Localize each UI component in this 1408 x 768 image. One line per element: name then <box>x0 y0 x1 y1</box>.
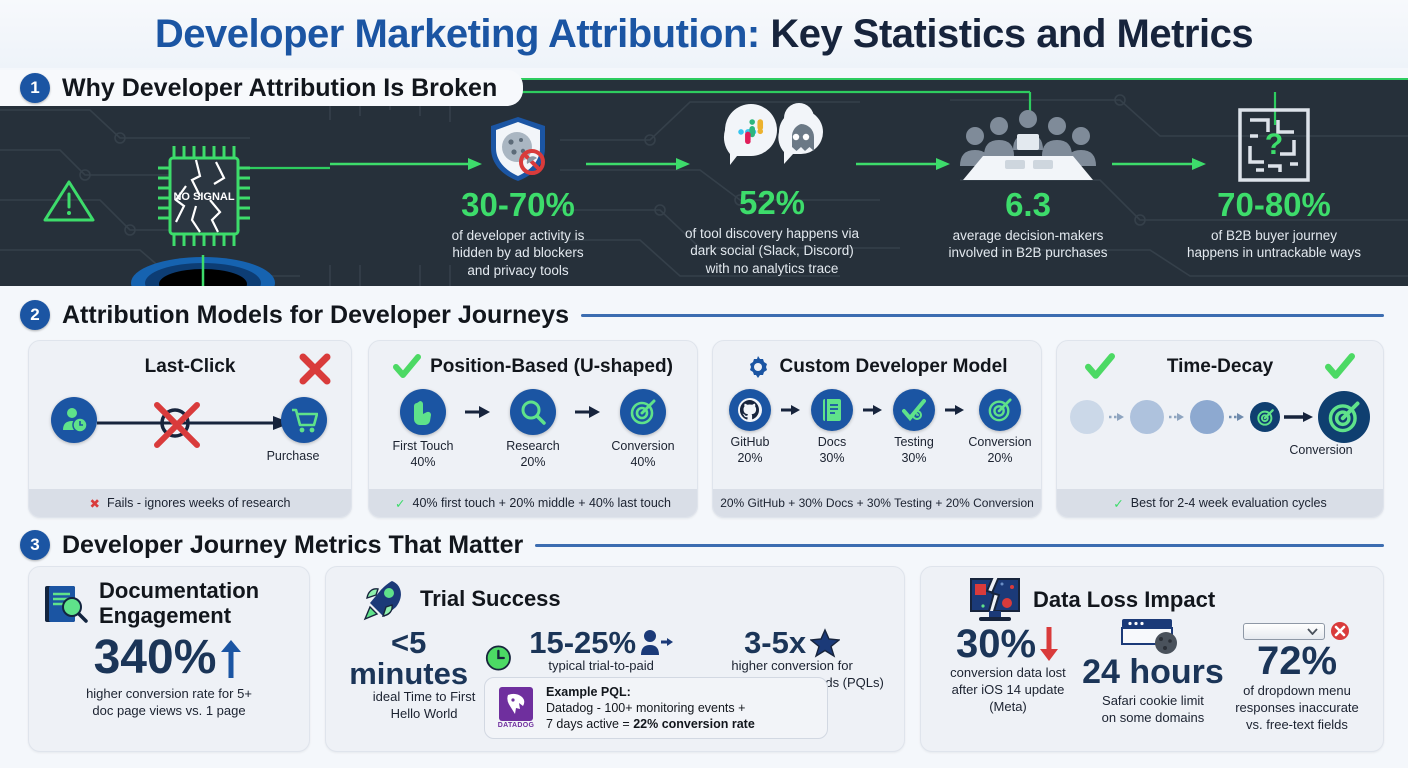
custom-model-label: Custom Developer Model <box>779 356 1007 378</box>
faded-arrow-icon <box>1228 412 1246 422</box>
faded-arrow-icon <box>1108 412 1126 422</box>
flow-arrow-1-icon <box>330 154 490 174</box>
target-icon <box>1318 391 1370 443</box>
user-arrow-icon <box>639 628 673 658</box>
dataloss-metric-3: 72% of dropdown menu responses inaccurat… <box>1225 627 1369 734</box>
target-icon <box>620 389 666 435</box>
footer-text: 20% GitHub + 30% Docs + 30% Testing + 20… <box>720 496 1034 510</box>
model-card-title: Time-Decay <box>1057 341 1383 381</box>
page-title-part2: Key Statistics and Metrics <box>760 12 1253 56</box>
stat-desc-4: of B2B buyer journey happens in untracka… <box>1156 227 1392 263</box>
flow-arrow-icon <box>945 389 965 431</box>
metric-desc: higher conversion rate for 5+ doc page v… <box>29 686 309 720</box>
stat-value-2: 52% <box>652 186 892 221</box>
dropdown-select[interactable] <box>1243 623 1325 640</box>
flow-arrow-2-icon <box>586 154 696 174</box>
browser-cookie-icon <box>1116 617 1190 655</box>
flow-arrow-icon <box>863 389 883 431</box>
red-x-icon <box>297 351 333 387</box>
flow-arrow-icon <box>465 389 491 435</box>
model-card-footer: 20% GitHub + 30% Docs + 30% Testing + 20… <box>713 489 1041 517</box>
section-1-number: 1 <box>20 73 50 103</box>
flow-node: Testing 30% <box>883 389 945 465</box>
tap-finger-icon <box>400 389 446 435</box>
search-crossed-icon <box>149 399 205 456</box>
dataloss-metric-1: 30% conversion data lost after iOS 14 up… <box>935 627 1081 716</box>
node-label: Conversion <box>607 439 679 455</box>
metric-card-title: Documentation Engagement <box>29 567 309 628</box>
model-card-title: Custom Developer Model <box>713 341 1041 381</box>
page-title: Developer Marketing Attribution: Key Sta… <box>155 12 1253 57</box>
dark-social-chat-icon <box>717 102 827 184</box>
flow-node: Conversion 20% <box>965 389 1035 465</box>
metric-value: 340% <box>94 634 217 682</box>
trial-success-label: Trial Success <box>420 587 561 612</box>
page-title-part1: Developer Marketing Attribution: <box>155 12 760 56</box>
stat-desc-3: average decision-makers involved in B2B … <box>912 227 1144 263</box>
section-1-heading: 1 Why Developer Attribution Is Broken <box>0 70 523 106</box>
node-label-purchase: Purchase <box>255 449 331 465</box>
stat-card-3: 6.3 average decision-makers involved in … <box>912 108 1144 262</box>
data-loss-label: Data Loss Impact <box>1033 588 1215 613</box>
user-clock-icon <box>1070 400 1104 434</box>
node-label-conversion: Conversion <box>1273 443 1369 459</box>
dataloss-metric-2: 24 hours Safari cookie limit on some dom… <box>1081 627 1225 727</box>
docs-icon <box>1130 400 1164 434</box>
section-3-rule <box>535 544 1384 547</box>
data-sink-hole-icon <box>130 255 276 286</box>
node-label: Docs <box>801 435 863 451</box>
target-icon <box>979 389 1021 431</box>
model-flow: First Touch 40% Research 20% Conversion … <box>369 389 697 469</box>
cart-icon <box>281 397 327 443</box>
datadog-wordmark: DATADOG <box>495 722 537 729</box>
broken-screen-icon <box>967 575 1023 625</box>
node-pct: 20% <box>719 451 781 465</box>
rocket-icon <box>362 575 410 623</box>
flow-arrow-icon <box>575 389 601 435</box>
stat-value-4: 70-80% <box>1156 188 1392 223</box>
node-pct: 20% <box>497 455 569 469</box>
warning-triangle-icon <box>42 178 96 229</box>
svg-text:NO SIGNAL: NO SIGNAL <box>173 191 234 203</box>
node-label: Testing <box>883 435 945 451</box>
time-decay-label: Time-Decay <box>1167 356 1273 378</box>
node-label: Conversion <box>965 435 1035 451</box>
target-icon <box>1250 402 1280 432</box>
flow-arrow-icon <box>781 389 801 431</box>
footer-text: 40% first touch + 20% middle + 40% last … <box>413 496 671 510</box>
section-1-title: Why Developer Attribution Is Broken <box>62 74 497 103</box>
magnifier-icon <box>510 389 556 435</box>
datadog-logo: DATADOG <box>495 687 537 729</box>
stat-desc-2: of tool discovery happens via dark socia… <box>652 225 892 278</box>
model-card-last-click[interactable]: Last-Click Purchase <box>28 340 352 518</box>
section-2-title: Attribution Models for Developer Journey… <box>62 301 569 330</box>
section-2-number: 2 <box>20 300 50 330</box>
journey-metric-cards: Documentation Engagement 340% higher con… <box>0 566 1408 752</box>
flow-node: Docs 30% <box>801 389 863 465</box>
model-card-time-decay[interactable]: Time-Decay Conversion ✓ <box>1056 340 1384 518</box>
section-3-title: Developer Journey Metrics That Matter <box>62 531 523 560</box>
github-icon <box>729 389 771 431</box>
node-pct: 30% <box>801 451 863 465</box>
model-card-custom-developer[interactable]: Custom Developer Model GitHub 20% Docs 3… <box>712 340 1042 518</box>
error-circle-icon <box>1330 621 1350 641</box>
section-3-heading: 3 Developer Journey Metrics That Matter <box>0 530 1408 560</box>
clock-icon <box>485 643 512 673</box>
stat-card-2: 52% of tool discovery happens via dark s… <box>652 102 892 278</box>
node-pct: 40% <box>387 455 459 469</box>
cookie-blocked-shield-icon <box>483 114 553 184</box>
metric-card-trial-success[interactable]: Trial Success <5 minutes ideal Time to F… <box>325 566 905 752</box>
stat-value-3: 6.3 <box>912 188 1144 223</box>
stat-value-1: 30-70% <box>400 188 636 223</box>
faded-arrow-icon <box>1168 412 1186 422</box>
model-card-footer: ✓ 40% first touch + 20% middle + 40% las… <box>369 489 697 517</box>
stat-card-1: 30-70% of developer activity is hidden b… <box>400 114 636 280</box>
flow-node: GitHub 20% <box>719 389 781 465</box>
docs-icon <box>811 389 853 431</box>
section-2-heading: 2 Attribution Models for Developer Journ… <box>0 300 1408 330</box>
node-pct: 20% <box>965 451 1035 465</box>
up-arrow-icon <box>218 636 244 680</box>
section-1-band: NO SIGNAL 30-70% <box>0 78 1408 286</box>
magnifier-icon <box>1190 400 1224 434</box>
broken-chip-icon: NO SIGNAL <box>150 138 258 261</box>
testing-check-icon <box>893 389 935 431</box>
section-2-rule <box>581 314 1384 317</box>
flow-node: Research 20% <box>497 389 569 469</box>
pql-example-box: DATADOG Example PQL: Datadog - 100+ moni… <box>484 677 828 739</box>
node-pct: 40% <box>607 455 679 469</box>
flow-arrow-icon <box>1284 411 1314 423</box>
green-check-icon: ✓ <box>395 496 405 511</box>
stat-card-4: ? 70-80% of B2B buyer journey happens in… <box>1156 106 1392 262</box>
model-card-footer: ✓ Best for 2-4 week evaluation cycles <box>1057 489 1383 517</box>
dropdown-error-icon <box>1225 621 1369 641</box>
flow-arrow-3-icon <box>856 154 956 174</box>
down-arrow-icon <box>1038 625 1060 663</box>
node-label: GitHub <box>719 435 781 451</box>
page-header: Developer Marketing Attribution: Key Sta… <box>0 0 1408 68</box>
book-magnifier-icon <box>41 580 89 628</box>
model-card-footer: ✖ Fails - ignores weeks of research <box>29 489 351 517</box>
position-based-label: Position-Based (U-shaped) <box>430 356 673 378</box>
metric-value: 72% <box>1257 641 1337 681</box>
metric-card-documentation[interactable]: Documentation Engagement 340% higher con… <box>28 566 310 752</box>
metric-title-text: Documentation Engagement <box>99 579 259 628</box>
metric-desc: conversion data lost after iOS 14 update… <box>935 665 1081 716</box>
stat-desc-1: of developer activity is hidden by ad bl… <box>400 227 636 280</box>
star-icon <box>810 628 840 658</box>
metric-value: <5 minutes <box>336 627 481 689</box>
metric-desc: Safari cookie limit on some domains <box>1081 693 1225 727</box>
green-check-icon: ✓ <box>1113 496 1123 511</box>
footer-text: Best for 2-4 week evaluation cycles <box>1131 496 1327 510</box>
red-x-icon: ✖ <box>90 496 100 511</box>
section-3-number: 3 <box>20 530 50 560</box>
node-pct: 30% <box>883 451 945 465</box>
green-check-icon <box>393 354 421 380</box>
attribution-model-cards: Last-Click Purchase <box>0 340 1408 518</box>
flow-node: Conversion 40% <box>607 389 679 469</box>
flow-arrow-4-icon <box>1112 154 1212 174</box>
metric-value: 15-25% <box>529 627 636 658</box>
flow-node: First Touch 40% <box>387 389 459 469</box>
user-clock-icon <box>51 397 97 443</box>
chevron-down-icon <box>1307 628 1318 635</box>
metric-card-title: Trial Success <box>326 567 904 623</box>
metric-card-data-loss[interactable]: Data Loss Impact 30% conversion data los… <box>920 566 1384 752</box>
model-card-position-based[interactable]: Position-Based (U-shaped) First Touch 40… <box>368 340 698 518</box>
node-label: First Touch <box>387 439 459 455</box>
model-card-title: Position-Based (U-shaped) <box>369 341 697 381</box>
node-label: Research <box>497 439 569 455</box>
last-click-label: Last-Click <box>145 356 236 378</box>
gear-icon <box>746 355 770 379</box>
green-check-icon <box>1085 353 1115 381</box>
model-flow: GitHub 20% Docs 30% Testing 30% <box>713 389 1041 465</box>
metric-value: 24 hours <box>1082 655 1224 689</box>
metric-desc: of dropdown menu responses inaccurate vs… <box>1225 683 1369 734</box>
pql-text: Example PQL: Datadog - 100+ monitoring e… <box>546 684 755 732</box>
metric-value: 30% <box>956 624 1036 664</box>
datadog-mark-icon <box>499 687 533 721</box>
metric-value: 3-5x <box>744 627 806 658</box>
maze-question-icon: ? <box>1234 106 1314 184</box>
meeting-table-icon <box>953 108 1103 184</box>
svg-text:?: ? <box>1265 128 1283 161</box>
green-check-icon <box>1325 353 1355 381</box>
footer-text: Fails - ignores weeks of research <box>107 496 290 510</box>
